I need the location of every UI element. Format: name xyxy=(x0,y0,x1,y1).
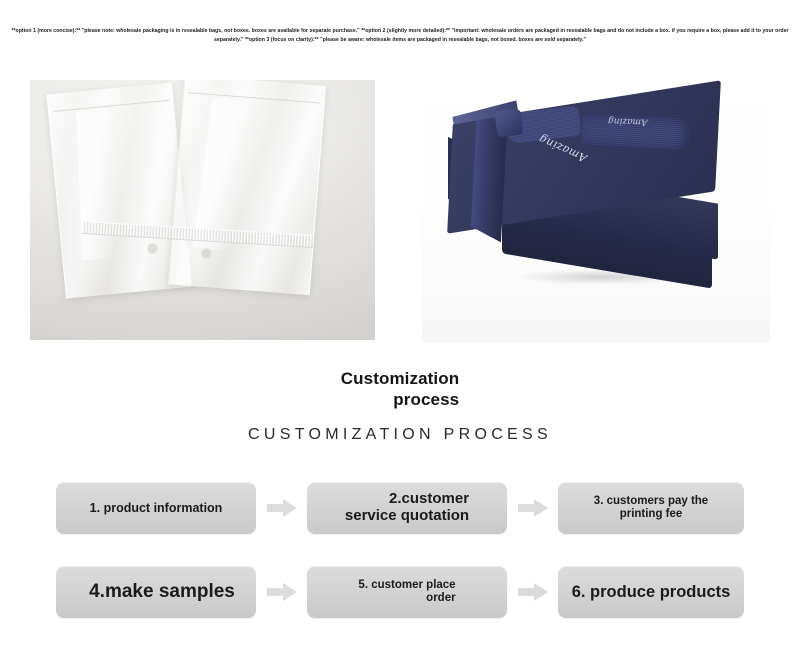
flow-step-5-customer-place-order[interactable]: 5. customer place order xyxy=(307,566,507,618)
customization-process-flow: 1. product information 2.customer servic… xyxy=(0,478,800,628)
gift-box-photo: Amazing Amazing xyxy=(422,80,770,342)
flow-step-3-label: 3. customers pay the printing fee xyxy=(594,495,708,521)
ribbon-script-text-small: Amazing xyxy=(608,115,648,126)
flow-step-6-label: 6. produce products xyxy=(572,583,731,601)
flow-step-2-customer-service-quotation[interactable]: 2.customer service quotation xyxy=(307,482,507,534)
bag-group xyxy=(30,80,375,340)
flow-row-bottom: 4.make samples 5. customer place order 6… xyxy=(56,566,744,618)
flow-arrow-2 xyxy=(507,499,558,517)
flow-step-4-make-samples[interactable]: 4.make samples xyxy=(56,566,256,618)
packaging-disclaimer-text: **option 1 (more concise):** "please not… xyxy=(4,27,796,45)
flow-step-1-product-information[interactable]: 1. product information xyxy=(56,482,256,534)
page-title: Customization process xyxy=(341,368,459,410)
section-heading-block: Customization process CUSTOMIZATION PROC… xyxy=(0,368,800,444)
flow-step-4-label: 4.make samples xyxy=(77,581,235,602)
bag-vent-hole-left xyxy=(147,243,158,254)
flow-arrow-3 xyxy=(256,583,307,601)
page-subtitle: CUSTOMIZATION PROCESS xyxy=(0,426,800,444)
resealable-bag-photo xyxy=(30,80,375,340)
product-photo-row: Amazing Amazing xyxy=(0,80,800,342)
clear-bag-right xyxy=(168,80,326,295)
bag-vent-hole-right xyxy=(201,248,212,259)
flow-step-6-produce-products[interactable]: 6. produce products xyxy=(558,566,744,618)
flow-arrow-1 xyxy=(256,499,307,517)
flow-arrow-4 xyxy=(507,583,558,601)
page-title-line-2: process xyxy=(393,390,459,409)
flow-row-top: 1. product information 2.customer servic… xyxy=(56,482,744,534)
page-title-line-1: Customization xyxy=(341,369,459,388)
flow-step-2-label: 2.customer service quotation xyxy=(345,491,469,525)
flow-step-3-customers-pay-printing-fee[interactable]: 3. customers pay the printing fee xyxy=(558,482,744,534)
flow-step-1-label: 1. product information xyxy=(90,501,223,515)
flow-step-5-label: 5. customer place order xyxy=(358,579,455,605)
